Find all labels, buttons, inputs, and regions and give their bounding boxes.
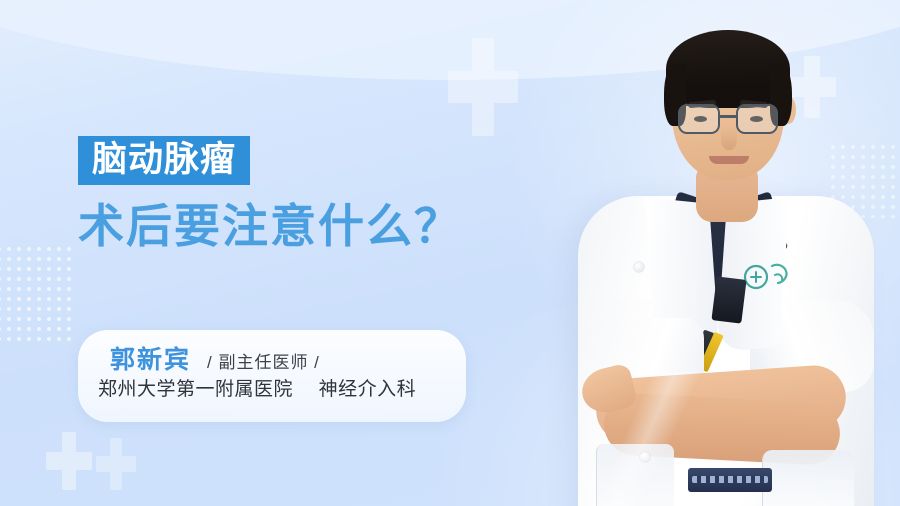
doctor-name: 郭新宾: [110, 340, 191, 376]
doctor-title: / 副主任医师 /: [207, 348, 320, 373]
doctor-department: 神经介入科: [319, 379, 417, 400]
headline-text: 术后要注意什么？: [78, 202, 508, 251]
cross-watermark-bottom-left-2-icon: [96, 438, 136, 490]
coat-pocket-right: [762, 450, 854, 506]
doctor-card-row-affiliation: 郑州大学第一附属医院 神经介入科: [78, 378, 466, 403]
nose: [721, 128, 737, 150]
chest-id-badge: [711, 276, 746, 323]
doctor-credential-card: 郭新宾 / 副主任医师 / 郑州大学第一附属医院 神经介入科: [78, 330, 466, 422]
coat-button-top: [634, 262, 644, 272]
cross-watermark-bottom-left-icon: [46, 432, 92, 490]
mouth: [709, 156, 749, 164]
lens-right: [736, 104, 778, 134]
doctor-hospital: 郑州大学第一附属医院: [98, 379, 293, 400]
dot-grid-left: [0, 244, 72, 344]
doctor-card-row-name: 郭新宾 / 副主任医师 /: [78, 340, 466, 378]
lens-left: [678, 104, 720, 134]
topic-tag: 脑动脉瘤: [78, 136, 250, 185]
glasses-bridge: [720, 115, 736, 118]
hospital-logo-embroidery-icon: [742, 258, 794, 292]
diagonal-sheen: [499, 368, 752, 506]
title-block: 脑动脉瘤 术后要注意什么？: [78, 136, 508, 251]
thumbnail-canvas: 脑动脉瘤 术后要注意什么？ 郭新宾 / 副主任医师 / 郑州大学第一附属医院 神…: [0, 0, 900, 506]
